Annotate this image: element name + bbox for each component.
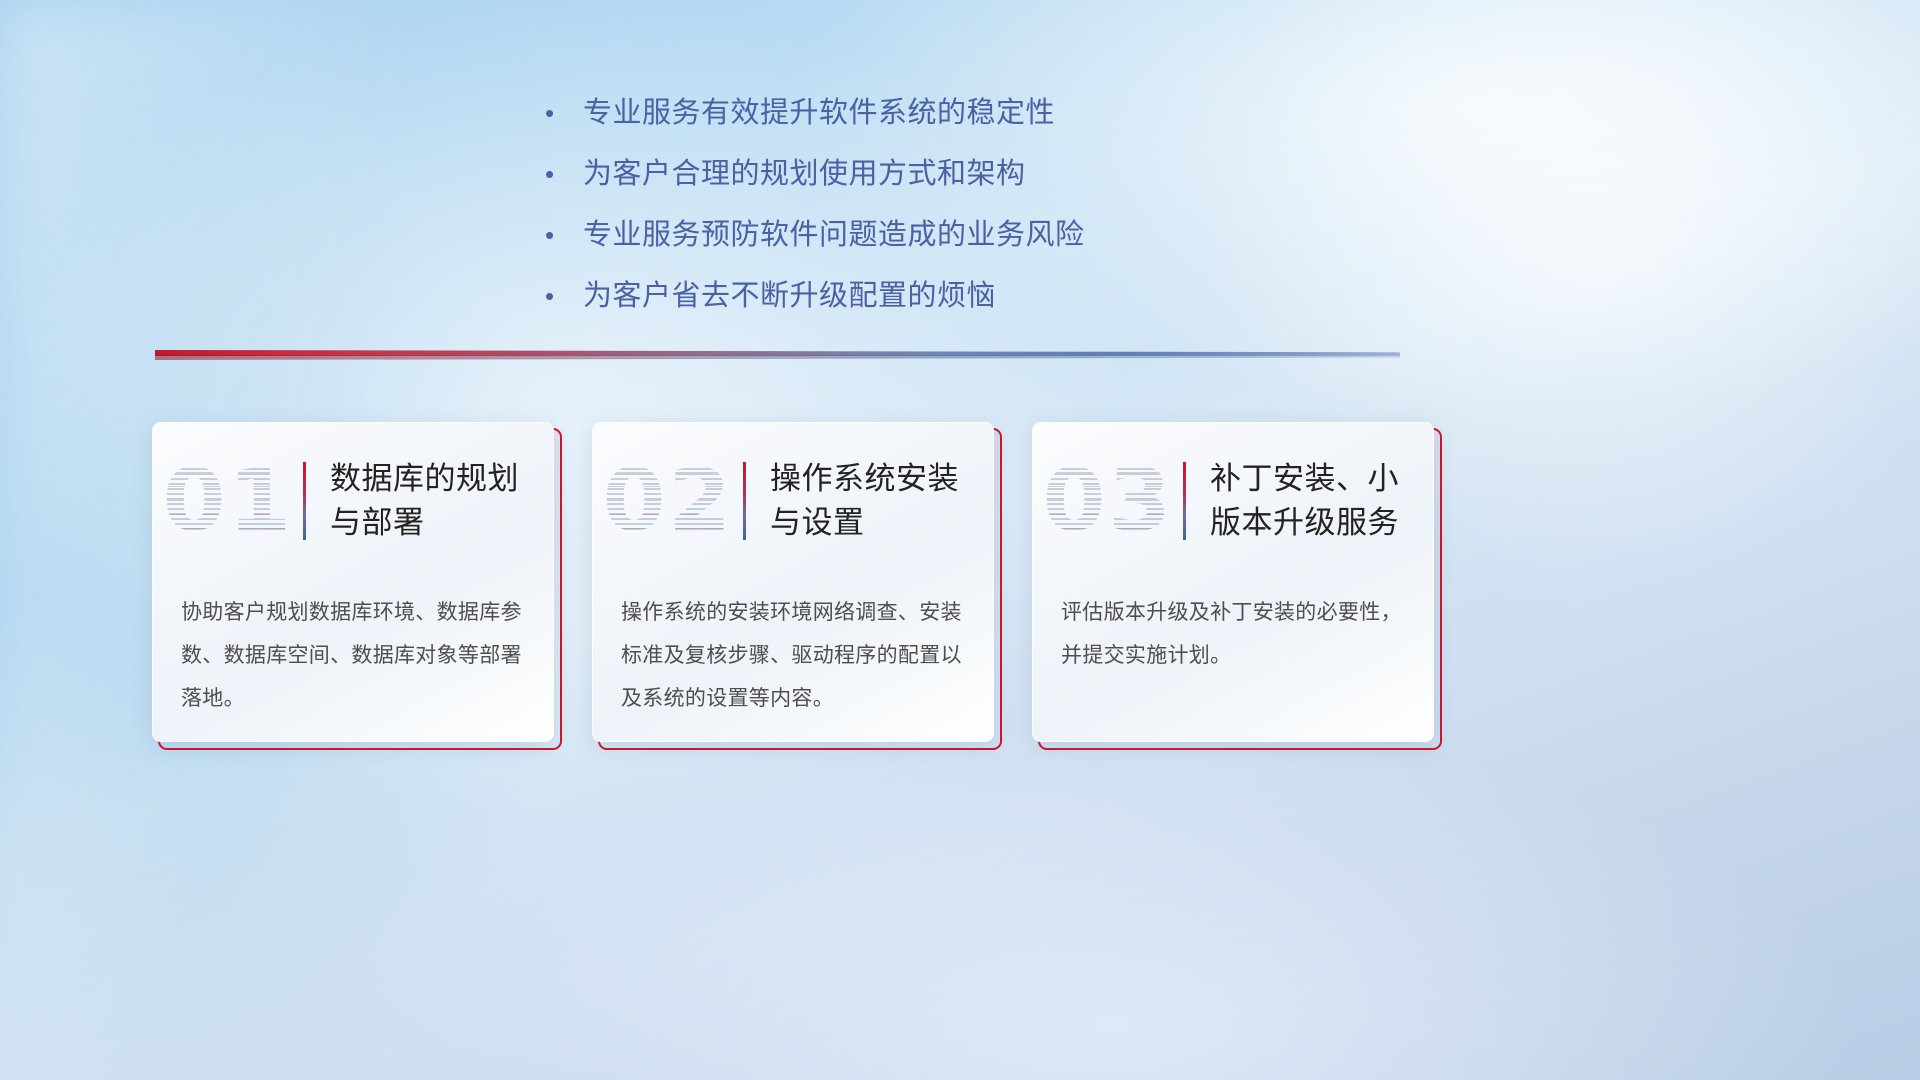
- card-01[interactable]: 01 01 数据库的规划 与部署 协助客户规划数据库环境、数据库参数、数据库空间…: [152, 422, 552, 740]
- bullet-dot-icon: •: [545, 214, 583, 256]
- card-body-text: 操作系统的安装环境网络调查、安装标准及复核步骤、驱动程序的配置以及系统的设置等内…: [621, 591, 967, 720]
- bullet-item: • 专业服务预防软件问题造成的业务风险: [545, 214, 1545, 256]
- bullet-text: 专业服务预防软件问题造成的业务风险: [583, 214, 1545, 256]
- card-number-watermark: 02 02: [593, 458, 743, 544]
- bullet-text: 为客户合理的规划使用方式和架构: [583, 153, 1545, 195]
- card-title-rule: [1183, 462, 1186, 540]
- card-title: 数据库的规划 与部署: [330, 457, 553, 545]
- card-number-watermark: 01 01: [153, 458, 303, 544]
- slide-stage: • 专业服务有效提升软件系统的稳定性 • 为客户合理的规划使用方式和架构 • 专…: [0, 0, 1920, 1080]
- bullet-text: 专业服务有效提升软件系统的稳定性: [583, 92, 1545, 134]
- card-surface[interactable]: 01 01 数据库的规划 与部署 协助客户规划数据库环境、数据库参数、数据库空间…: [152, 422, 554, 742]
- card-surface[interactable]: 02 02 操作系统安装 与设置 操作系统的安装环境网络调查、安装标准及复核步骤…: [592, 422, 994, 742]
- card-title-line-2: 与部署: [330, 501, 545, 545]
- card-title-rule: [303, 462, 306, 540]
- bullet-item: • 为客户合理的规划使用方式和架构: [545, 153, 1545, 195]
- bullet-dot-icon: •: [545, 275, 583, 317]
- card-header: 03 03 补丁安装、小 版本升级服务: [1033, 441, 1433, 561]
- bullet-item: • 为客户省去不断升级配置的烦恼: [545, 275, 1545, 317]
- card-number-text: 03: [1042, 458, 1173, 544]
- section-divider: [155, 350, 1400, 361]
- card-title: 补丁安装、小 版本升级服务: [1210, 457, 1433, 545]
- card-03[interactable]: 03 03 补丁安装、小 版本升级服务 评估版本升级及补丁安装的必要性，并提交实…: [1032, 422, 1432, 740]
- divider-lower-stripe: [155, 355, 1400, 360]
- card-title-rule: [743, 462, 746, 540]
- card-number-text: 01: [162, 458, 293, 544]
- card-title: 操作系统安装 与设置: [770, 457, 993, 545]
- card-title-line-1: 补丁安装、小: [1210, 457, 1425, 501]
- bullet-dot-icon: •: [545, 92, 583, 134]
- card-header: 01 01 数据库的规划 与部署: [153, 441, 553, 561]
- card-title-line-1: 数据库的规划: [330, 457, 545, 501]
- bullet-dot-icon: •: [545, 153, 583, 195]
- card-02[interactable]: 02 02 操作系统安装 与设置 操作系统的安装环境网络调查、安装标准及复核步骤…: [592, 422, 992, 740]
- card-body-text: 评估版本升级及补丁安装的必要性，并提交实施计划。: [1061, 591, 1407, 677]
- card-number-text: 02: [602, 458, 733, 544]
- bullet-text: 为客户省去不断升级配置的烦恼: [583, 275, 1545, 317]
- card-row: 01 01 数据库的规划 与部署 协助客户规划数据库环境、数据库参数、数据库空间…: [152, 422, 1772, 740]
- card-title-line-2: 版本升级服务: [1210, 501, 1425, 545]
- card-body-text: 协助客户规划数据库环境、数据库参数、数据库空间、数据库对象等部署落地。: [181, 591, 527, 720]
- card-number-watermark: 03 03: [1033, 458, 1183, 544]
- bullet-list: • 专业服务有效提升软件系统的稳定性 • 为客户合理的规划使用方式和架构 • 专…: [545, 92, 1545, 336]
- card-header: 02 02 操作系统安装 与设置: [593, 441, 993, 561]
- bullet-item: • 专业服务有效提升软件系统的稳定性: [545, 92, 1545, 134]
- card-title-line-2: 与设置: [770, 501, 985, 545]
- card-surface[interactable]: 03 03 补丁安装、小 版本升级服务 评估版本升级及补丁安装的必要性，并提交实…: [1032, 422, 1434, 742]
- card-title-line-1: 操作系统安装: [770, 457, 985, 501]
